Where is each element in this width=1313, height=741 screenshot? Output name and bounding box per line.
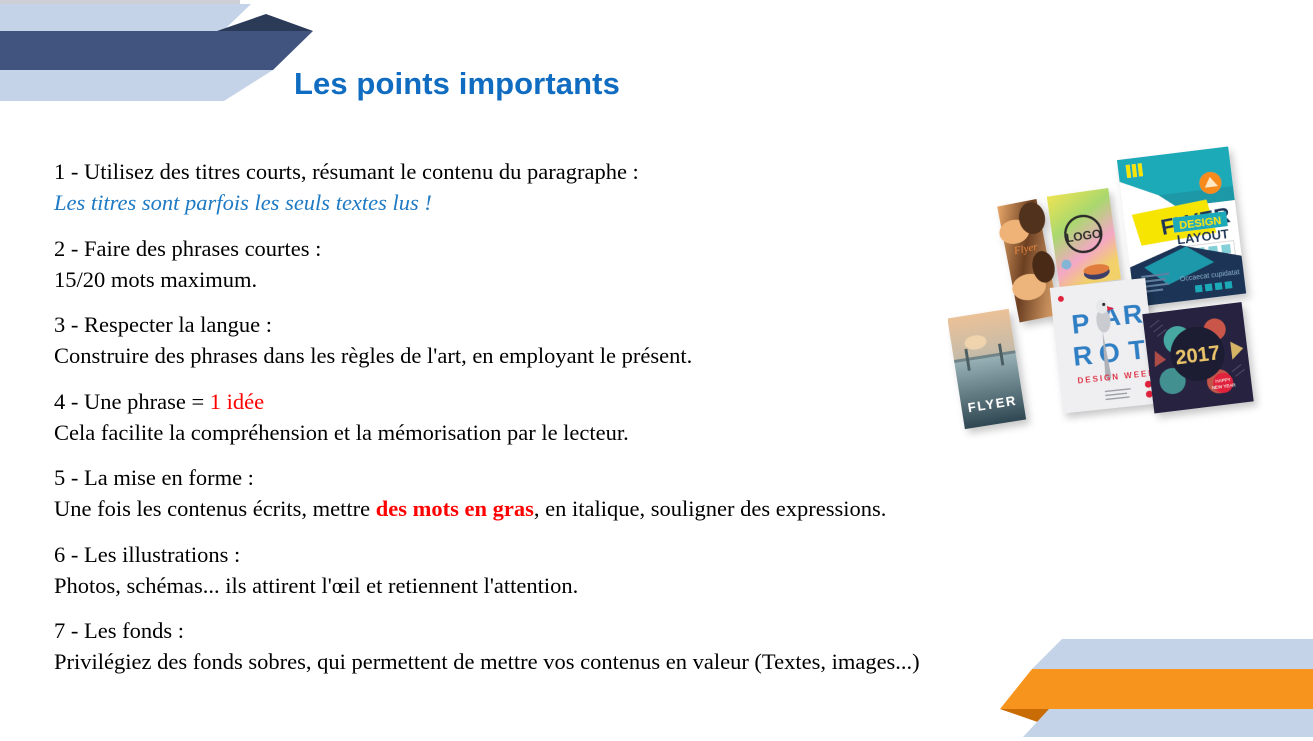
item-heading: 5 - La mise en forme : [54, 462, 1064, 493]
deco-band-lower-light-br2 [1045, 709, 1313, 737]
item-heading-accent: 1 idée [210, 389, 264, 414]
item-heading: 1 - Utilisez des titres courts, résumant… [54, 156, 1064, 187]
deco-band-upper-light-2 [0, 4, 251, 30]
list-item: 6 - Les illustrations : Photos, schémas.… [54, 539, 1064, 602]
flyer-mockups-collage: FLYER Flyer LOGO [948, 140, 1278, 440]
list-item: 7 - Les fonds : Privilégiez des fonds so… [54, 615, 1064, 678]
parrot-letter-r: R [1121, 299, 1144, 331]
item-subline: Photos, schémas... ils attirent l'œil et… [54, 570, 1064, 601]
content-list: 1 - Utilisez des titres courts, résumant… [54, 156, 1064, 678]
list-item: 3 - Respecter la langue : Construire des… [54, 309, 1064, 372]
item-subline: Privilégiez des fonds sobres, qui permet… [54, 646, 1064, 677]
item-subline-pre: Une fois les contenus écrits, mettre [54, 496, 376, 521]
deco-fold-triangle [217, 14, 313, 31]
watercolor-logo-flyer: LOGO [1047, 188, 1121, 288]
item-subline-emphasis: Les titres sont parfois les seuls textes… [54, 187, 1064, 218]
item-subline-post: , en italique, souligner des expressions… [534, 496, 886, 521]
item-heading: 2 - Faire des phrases courtes : [54, 233, 1064, 264]
sunset-bridge-flyer: FLYER [948, 309, 1026, 429]
deco-top-strip [0, 0, 240, 4]
list-item: 4 - Une phrase = 1 idée Cela facilite la… [54, 386, 1064, 449]
parrot-letter-o: O [1097, 337, 1121, 369]
chevron-ribbon-top-left [0, 0, 330, 110]
slide-root: Les points importants 1 - Utilisez des t… [0, 0, 1313, 741]
deco-band-lower-light [0, 70, 273, 101]
parrot-letter-p: P [1070, 308, 1091, 340]
item-heading: 4 - Une phrase = 1 idée [54, 386, 1064, 417]
item-subline: 15/20 mots maximum. [54, 264, 1064, 295]
list-item: 1 - Utilisez des titres courts, résumant… [54, 156, 1064, 219]
item-subline-accent: des mots en gras [376, 496, 534, 521]
deco-fold-triangle-br [1000, 709, 1096, 726]
year-2017-poster: 2017 HAPPY NEW YEAR [1142, 302, 1253, 413]
deco-ribbon-navy [0, 31, 313, 70]
list-item: 5 - La mise en forme : Une fois les cont… [54, 462, 1064, 525]
page-title: Les points importants [294, 66, 620, 102]
list-item: 2 - Faire des phrases courtes : 15/20 mo… [54, 233, 1064, 296]
item-subline: Une fois les contenus écrits, mettre des… [54, 493, 1064, 524]
deco-band-lower-light-br [1023, 709, 1313, 737]
item-subline: Cela facilite la compréhension et la mém… [54, 417, 1064, 448]
item-subline: Construire des phrases dans les règles d… [54, 340, 1064, 371]
parrot-design-week-poster: P A R R O T DESIGN WEEK [1050, 278, 1160, 413]
item-heading-text: 4 - Une phrase = [54, 389, 210, 414]
item-heading: 3 - Respecter la langue : [54, 309, 1064, 340]
parrot-letter-r2: R [1071, 340, 1094, 372]
deco-band-upper-light [0, 4, 251, 32]
item-heading: 7 - Les fonds : [54, 615, 1064, 646]
item-heading: 6 - Les illustrations : [54, 539, 1064, 570]
deco-band-upper-light-br [1032, 639, 1313, 669]
